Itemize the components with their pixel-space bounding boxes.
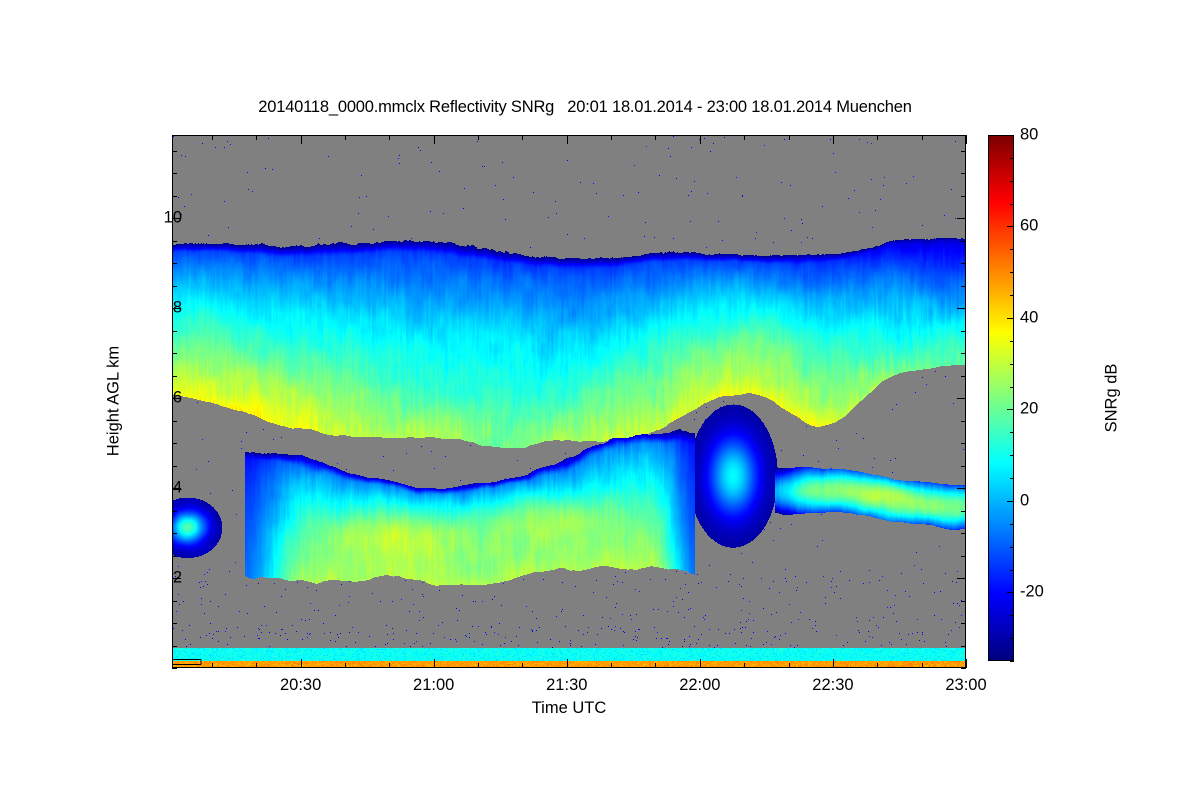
colorbar-minor-tick <box>1010 432 1014 433</box>
colorbar-minor-tick <box>1010 249 1014 250</box>
y-tick-label: 4 <box>173 479 182 498</box>
y-minor-tick <box>172 331 177 332</box>
y-minor-tick <box>172 421 177 422</box>
x-minor-tick-top <box>478 135 479 140</box>
y-minor-tick-right <box>961 668 966 669</box>
x-major-tick-top <box>567 135 568 144</box>
x-minor-tick <box>744 663 745 668</box>
x-minor-tick-top <box>256 135 257 140</box>
x-major-tick <box>833 659 834 668</box>
colorbar-minor-tick <box>1010 204 1014 205</box>
plot-area[interactable] <box>172 135 966 668</box>
x-major-tick-top <box>833 135 834 144</box>
y-minor-tick-right <box>961 443 966 444</box>
x-minor-tick <box>877 663 878 668</box>
y-major-tick-right <box>957 398 966 399</box>
y-minor-tick <box>172 376 177 377</box>
x-minor-tick <box>345 663 346 668</box>
x-minor-tick-top <box>611 135 612 140</box>
x-major-tick-top <box>301 135 302 144</box>
y-minor-tick-right <box>961 466 966 467</box>
x-major-tick <box>966 659 967 668</box>
colorbar-major-tick <box>1007 226 1014 227</box>
colorbar-minor-tick <box>1010 524 1014 525</box>
y-minor-tick <box>172 511 177 512</box>
y-minor-tick-right <box>961 151 966 152</box>
x-major-tick <box>700 659 701 668</box>
colorbar-minor-tick <box>1010 341 1014 342</box>
x-tick-label: 23:00 <box>945 676 986 695</box>
colorbar-major-tick <box>1007 501 1014 502</box>
y-axis-label: Height AGL km <box>105 281 124 521</box>
x-tick-label: 22:30 <box>812 676 853 695</box>
y-minor-tick <box>172 443 177 444</box>
x-tick-label: 20:30 <box>280 676 321 695</box>
x-minor-tick-top <box>655 135 656 140</box>
y-minor-tick-right <box>961 196 966 197</box>
x-minor-tick <box>789 663 790 668</box>
x-minor-tick-top <box>389 135 390 140</box>
x-major-tick-top <box>434 135 435 144</box>
x-minor-tick <box>212 663 213 668</box>
x-minor-tick-top <box>877 135 878 140</box>
colorbar-gradient <box>989 136 1013 660</box>
y-tick-label: 10 <box>164 209 182 228</box>
x-major-tick <box>567 659 568 668</box>
y-minor-tick-right <box>961 263 966 264</box>
x-major-tick <box>434 659 435 668</box>
x-tick-label: 22:00 <box>679 676 720 695</box>
colorbar-tick-label: 20 <box>1020 400 1038 419</box>
x-minor-tick <box>389 663 390 668</box>
y-minor-tick <box>172 353 177 354</box>
y-tick-label: 2 <box>173 569 182 588</box>
colorbar-major-tick <box>1007 318 1014 319</box>
x-minor-tick <box>611 663 612 668</box>
y-minor-tick-right <box>961 556 966 557</box>
y-tick-label: 8 <box>173 299 182 318</box>
colorbar-minor-tick <box>1010 364 1014 365</box>
colorbar-minor-tick <box>1010 455 1014 456</box>
y-minor-tick-right <box>961 241 966 242</box>
x-tick-label: 21:30 <box>546 676 587 695</box>
colorbar-tick-label: 80 <box>1020 126 1038 145</box>
x-minor-tick-top <box>789 135 790 140</box>
y-minor-tick-right <box>961 601 966 602</box>
x-major-tick-top <box>700 135 701 144</box>
x-major-tick-top <box>966 135 967 144</box>
x-minor-tick <box>522 663 523 668</box>
y-major-tick-right <box>957 308 966 309</box>
colorbar-major-tick <box>1007 135 1014 136</box>
colorbar-minor-tick <box>1010 478 1014 479</box>
y-minor-tick-right <box>961 286 966 287</box>
colorbar-tick-label: 60 <box>1020 217 1038 236</box>
y-minor-tick-right <box>961 173 966 174</box>
colorbar-minor-tick <box>1010 272 1014 273</box>
y-minor-tick <box>172 556 177 557</box>
colorbar-minor-tick <box>1010 387 1014 388</box>
colorbar-tick-label: -20 <box>1020 583 1044 602</box>
colorbar-minor-tick <box>1010 570 1014 571</box>
y-minor-tick <box>172 623 177 624</box>
y-major-tick-right <box>957 488 966 489</box>
y-minor-tick-right <box>961 533 966 534</box>
colorbar-minor-tick <box>1010 615 1014 616</box>
colorbar[interactable] <box>988 135 1014 661</box>
colorbar-minor-tick <box>1010 181 1014 182</box>
y-minor-tick-right <box>961 421 966 422</box>
colorbar-minor-tick <box>1010 158 1014 159</box>
colorbar-tick-label: 0 <box>1020 491 1029 510</box>
x-axis-label: Time UTC <box>172 699 966 718</box>
y-minor-tick-right <box>961 331 966 332</box>
x-tick-label: 21:00 <box>413 676 454 695</box>
x-minor-tick <box>478 663 479 668</box>
colorbar-tick-label: 40 <box>1020 308 1038 327</box>
y-minor-tick <box>172 646 177 647</box>
x-minor-tick-top <box>744 135 745 140</box>
x-major-tick <box>301 659 302 668</box>
x-minor-tick-top <box>922 135 923 140</box>
y-minor-tick <box>172 286 177 287</box>
y-major-tick-right <box>957 578 966 579</box>
y-minor-tick-right <box>961 646 966 647</box>
colorbar-minor-tick <box>1010 661 1014 662</box>
y-minor-tick-right <box>961 511 966 512</box>
x-minor-tick <box>655 663 656 668</box>
x-minor-tick-top <box>212 135 213 140</box>
x-minor-tick-top <box>522 135 523 140</box>
x-minor-tick <box>922 663 923 668</box>
x-minor-tick-top <box>345 135 346 140</box>
x-minor-tick <box>256 663 257 668</box>
y-minor-tick <box>172 196 177 197</box>
radar-heatmap[interactable] <box>173 136 966 668</box>
y-minor-tick <box>172 173 177 174</box>
y-minor-tick <box>172 668 177 669</box>
y-minor-tick <box>172 601 177 602</box>
y-minor-tick-right <box>961 376 966 377</box>
y-minor-tick <box>172 151 177 152</box>
y-tick-label: 6 <box>173 389 182 408</box>
colorbar-label: SNRg dB <box>1103 288 1122 508</box>
page-title: 20140118_0000.mmclx Reflectivity SNRg 20… <box>0 98 1170 117</box>
colorbar-minor-tick <box>1010 638 1014 639</box>
y-major-tick-right <box>957 218 966 219</box>
y-minor-tick <box>172 263 177 264</box>
y-minor-tick-right <box>961 353 966 354</box>
y-minor-tick <box>172 533 177 534</box>
colorbar-minor-tick <box>1010 547 1014 548</box>
colorbar-major-tick <box>1007 409 1014 410</box>
y-minor-tick <box>172 466 177 467</box>
y-minor-tick <box>172 241 177 242</box>
radar-figure: 20140118_0000.mmclx Reflectivity SNRg 20… <box>0 0 1200 800</box>
y-minor-tick-right <box>961 623 966 624</box>
colorbar-major-tick <box>1007 592 1014 593</box>
colorbar-minor-tick <box>1010 295 1014 296</box>
